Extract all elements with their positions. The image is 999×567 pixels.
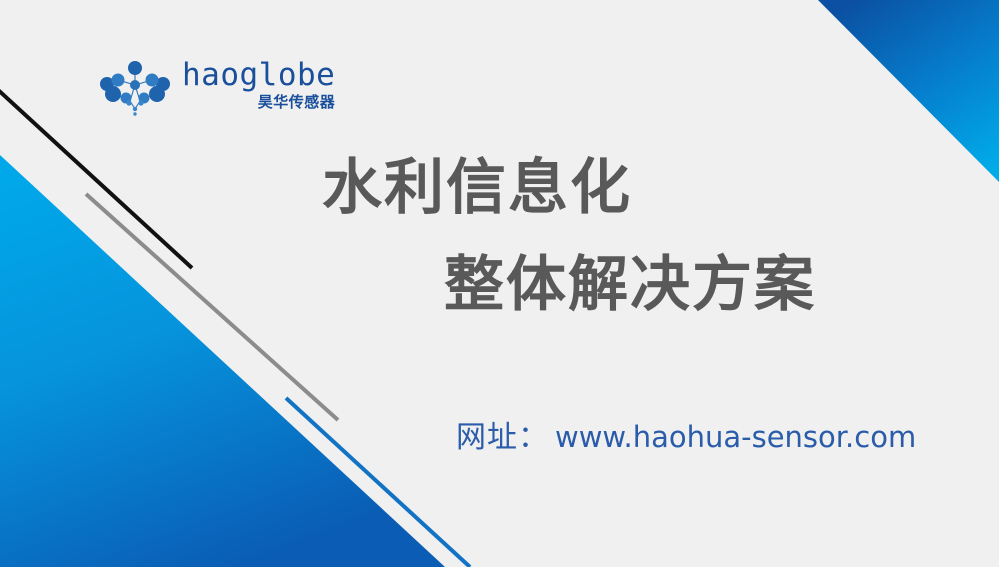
slide-title: 水利信息化 整体解决方案 [0,158,999,315]
website-label: 网址： [456,420,549,456]
network-cluster-icon [96,58,174,116]
logo-subtitle: 昊华传感器 [258,95,336,110]
title-line-2: 整体解决方案 [444,255,999,315]
title-line-1: 水利信息化 [322,158,999,218]
title-slide: haoglobe 昊华传感器 水利信息化 整体解决方案 网址： www.haoh… [0,0,999,567]
logo-text-group: haoglobe 昊华传感器 [182,58,335,110]
website-url[interactable]: www.haohua-sensor.com [555,420,916,455]
logo-wordmark: haoglobe [182,60,335,91]
brand-logo: haoglobe 昊华传感器 [96,58,335,116]
website-line: 网址： www.haohua-sensor.com [456,420,916,456]
